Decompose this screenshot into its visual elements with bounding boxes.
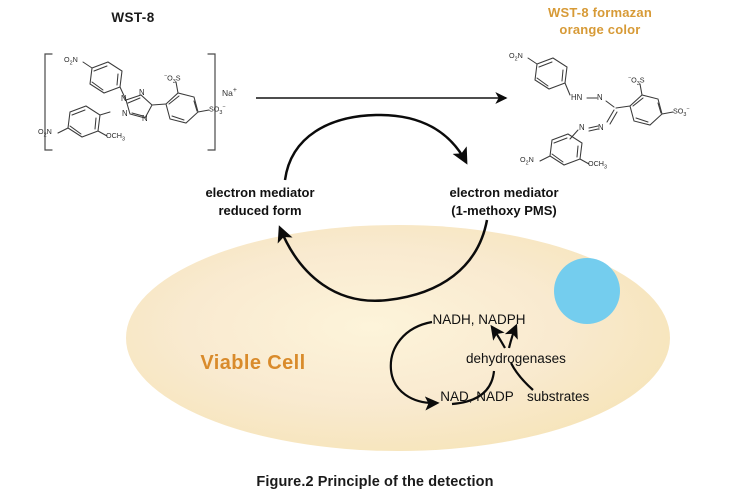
wst8-methoxy: OCH3 [106,131,125,142]
formazan-azo-n2: N [598,123,604,132]
substrates-label: substrates [527,389,617,404]
bracket-close [208,54,215,150]
formazan-hydrazone-hn: HN [571,93,582,102]
figure-canvas: O2N O2N OCH3 −O3S SO3− N N N N Na+ [0,0,750,500]
formazan-nitro-bottom: O2N [520,155,534,166]
nadh-label: NADH, NADPH [419,312,539,327]
wst8-nitro-top: O2N [64,55,78,66]
dehydrogenases-label: dehydrogenases [466,351,596,366]
formazan-azo-n1: N [579,123,585,132]
mediator-pms-label: electron mediator (1-methoxy PMS) [419,184,589,220]
wst8-ring-n2: N [139,88,145,97]
wst8-ring-n4: N [122,109,128,118]
cell-nucleus [554,258,620,324]
formazan-title: WST-8 formazan orange color [505,4,695,38]
wst8-ring-n3: N [142,114,148,123]
mediator-pms-line2: (1-methoxy PMS) [419,202,589,220]
substrate-arrow-icon [511,363,533,390]
viable-cell-label: Viable Cell [168,352,338,375]
formazan-hydrazone-n: N [597,93,603,102]
wst8-nitro-bottom: O2N [38,127,52,138]
mediator-reduced-line1: electron mediator [186,184,334,202]
formazan-nitro-top: O2N [509,51,523,62]
cycle-arrow-upper-icon [285,115,466,180]
mediator-reduced-line2: reduced form [186,202,334,220]
formazan-title-line2: orange color [505,21,695,38]
formazan-title-line1: WST-8 formazan [505,4,695,21]
dehydrogenase-arrow-right-icon [509,326,516,348]
figure-caption: Figure.2 Principle of the detection [175,474,575,490]
wst8-sulfonate-top: −O3S [164,73,181,85]
formazan-methoxy: OCH3 [588,159,607,170]
viable-cell-body [126,225,670,451]
nad-label: NAD, NADP [427,389,527,404]
mediator-reduced-label: electron mediator reduced form [186,184,334,220]
formazan-sulfonate-right: SO3− [673,106,690,118]
cycle-arrow-lower-icon [280,220,487,301]
formazan-sulfonate-top: −O3S [628,75,645,87]
sodium-counter-ion: Na+ [222,87,237,98]
wst8-sulfonate-right: SO3− [209,104,226,116]
dehydrogenase-arrow-left-icon [492,327,505,348]
wst8-ring-n1: N [121,94,127,103]
mediator-pms-line1: electron mediator [419,184,589,202]
wst8-title: WST-8 [73,10,193,25]
